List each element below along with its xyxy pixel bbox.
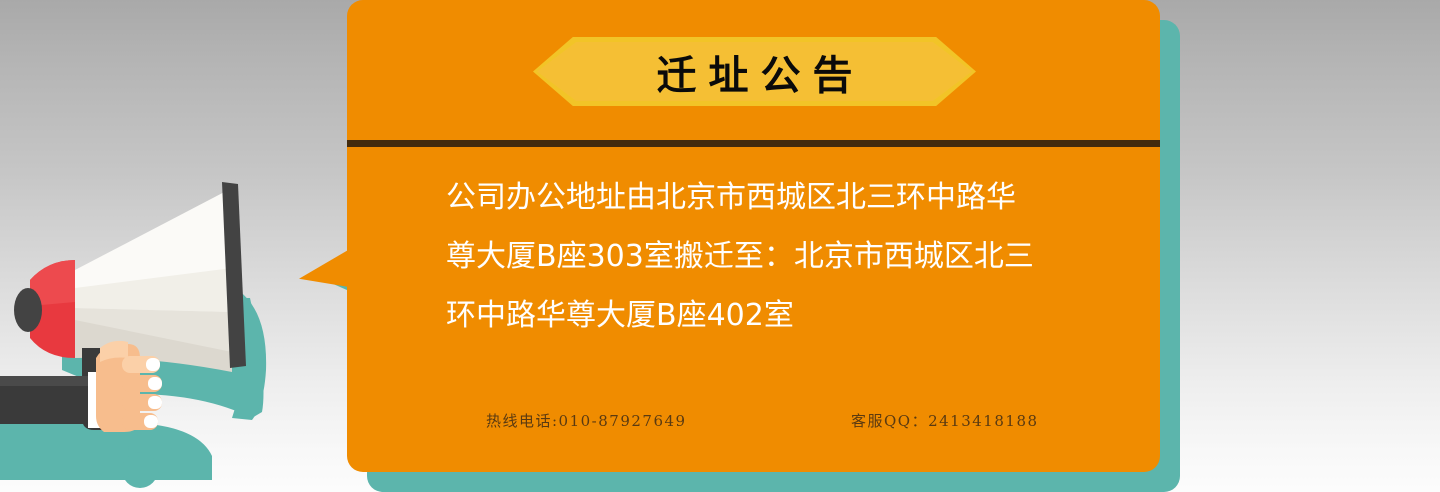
nail-2: [148, 377, 162, 390]
title-banner: 迁址公告: [533, 37, 976, 106]
megaphone-illustration: [0, 180, 360, 492]
notice-line-1: 公司办公地址由北京市西城区北三环中路华: [446, 168, 1106, 227]
hotline-text: 热线电话:010-87927649: [486, 410, 687, 431]
megaphone-icon: [0, 180, 360, 492]
banner-title: 迁址公告: [533, 37, 976, 106]
arm-shadow-dot-2: [122, 452, 158, 488]
nail-3: [148, 396, 162, 409]
megaphone-cap: [14, 288, 42, 332]
notice-line-2: 尊大厦B座303室搬迁至：北京市西城区北三: [446, 227, 1106, 286]
nail-4: [144, 415, 158, 428]
announcement-banner-image: 迁址公告 公司办公地址由北京市西城区北三环中路华 尊大厦B座303室搬迁至：北京…: [0, 0, 1440, 492]
notice-body: 公司办公地址由北京市西城区北三环中路华 尊大厦B座303室搬迁至：北京市西城区北…: [446, 168, 1106, 345]
nail-1: [146, 358, 160, 371]
qq-text: 客服QQ：2413418188: [851, 410, 1039, 431]
notice-line-3: 环中路华尊大厦B座402室: [446, 286, 1106, 345]
sleeve-highlight: [0, 376, 92, 386]
arm-shadow: [0, 424, 212, 480]
header-divider: [347, 140, 1160, 147]
